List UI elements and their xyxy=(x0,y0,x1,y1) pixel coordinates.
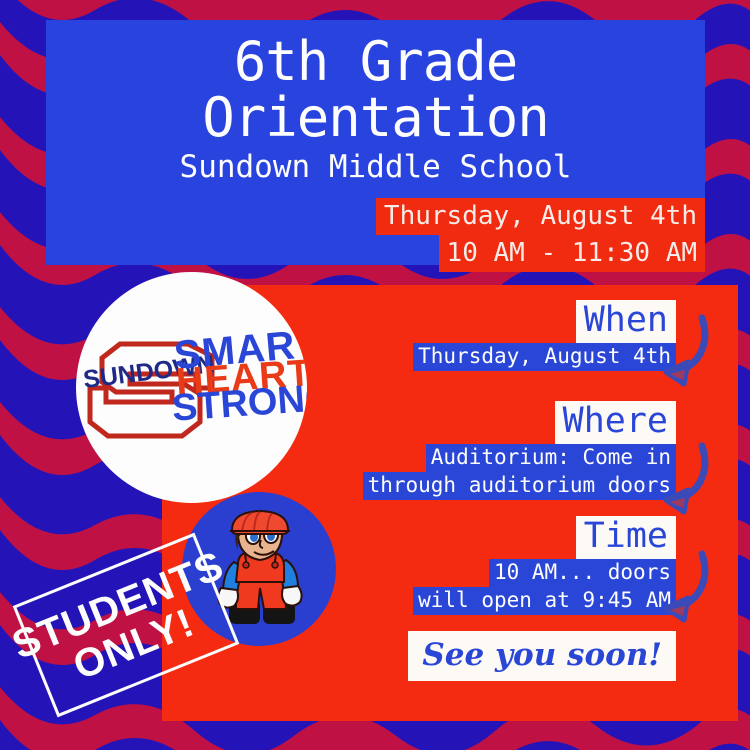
school-logo: SUNDOWN SMART HEART STRONG xyxy=(76,272,307,503)
motto-strong: STRONG xyxy=(171,384,307,425)
where-value-line1: Auditorium: Come in xyxy=(426,444,676,472)
where-value-group: Auditorium: Come in through auditorium d… xyxy=(363,444,676,500)
logo-motto: SMART HEART STRONG xyxy=(174,334,307,420)
when-value: Thursday, August 4th xyxy=(413,343,676,371)
time-value-line2: will open at 9:45 AM xyxy=(413,587,676,615)
time-value-group: 10 AM... doors will open at 9:45 AM xyxy=(413,559,676,615)
curved-arrow-icon-when xyxy=(658,312,734,394)
time-value-line1: 10 AM... doors xyxy=(489,559,676,587)
header-time-chip: 10 AM - 11:30 AM xyxy=(439,235,705,272)
page-title-line2: Orientation xyxy=(202,90,549,146)
header-date-stack: Thursday, August 4th 10 AM - 11:30 AM xyxy=(376,198,705,272)
curved-arrow-icon-time xyxy=(658,548,734,630)
closing-message: See you soon! xyxy=(408,631,676,681)
school-name: Sundown Middle School xyxy=(180,146,572,188)
header-date-chip: Thursday, August 4th xyxy=(376,198,705,235)
details-column: When Thursday, August 4th Where Auditori… xyxy=(330,300,710,681)
curved-arrow-icon-where xyxy=(658,440,734,522)
page-title-line1: 6th Grade xyxy=(234,34,518,90)
flyer-canvas: 6th Grade Orientation Sundown Middle Sch… xyxy=(0,0,750,750)
miner-mascot-icon xyxy=(214,510,306,628)
where-value-line2: through auditorium doors xyxy=(363,472,676,500)
header-banner: 6th Grade Orientation Sundown Middle Sch… xyxy=(46,20,705,265)
where-label: Where xyxy=(555,401,676,444)
when-value-group: Thursday, August 4th xyxy=(413,343,676,371)
